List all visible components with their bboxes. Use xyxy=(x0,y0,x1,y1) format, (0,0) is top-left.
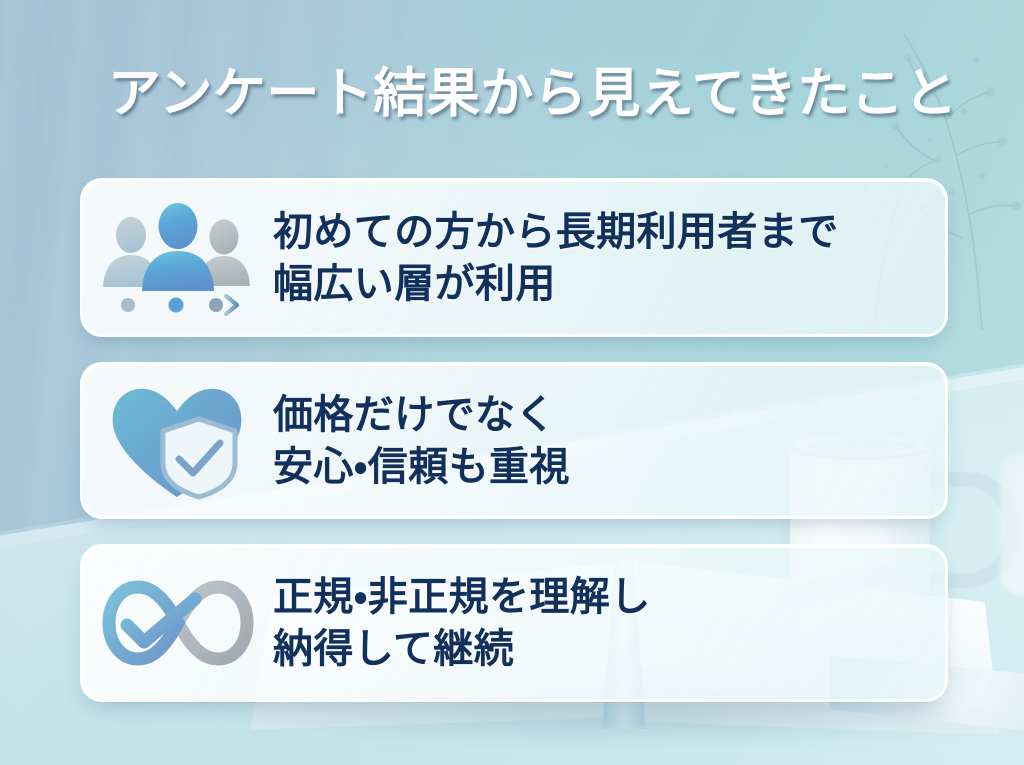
infinity-check-icon xyxy=(103,575,253,671)
card-icon-slot xyxy=(83,365,273,516)
insight-card-text: 初めての方から長期利用者まで 幅広い層が利用 xyxy=(273,206,945,310)
card-icon-slot xyxy=(83,181,273,334)
people-group-timeline-icon xyxy=(98,199,258,317)
insight-card-line-1: 正規・非正規を理解し xyxy=(273,571,921,623)
insight-card-list: 初めての方から長期利用者まで 幅広い層が利用 xyxy=(80,178,948,702)
slide-root: アンケート結果から見えてきたこと xyxy=(0,0,1024,765)
insight-card-text: 価格だけでなく 安心・信頼も重視 xyxy=(273,389,945,493)
insight-card-line-1: 価格だけでなく xyxy=(273,389,921,441)
insight-card-trust[interactable]: 価格だけでなく 安心・信頼も重視 xyxy=(80,362,948,519)
insight-card-line-2: 幅広い層が利用 xyxy=(273,258,921,310)
heart-shield-check-icon xyxy=(107,381,249,501)
page-title: アンケート結果から見えてきたこと xyxy=(108,64,958,123)
insight-card-line-1: 初めての方から長期利用者まで xyxy=(273,206,921,258)
card-icon-slot xyxy=(83,547,273,699)
insight-card-text: 正規・非正規を理解し 納得して継続 xyxy=(273,571,945,675)
shield xyxy=(163,419,235,497)
insight-card-line-2: 安心・信頼も重視 xyxy=(273,441,921,493)
insight-card-users[interactable]: 初めての方から長期利用者まで 幅広い層が利用 xyxy=(80,178,948,337)
insight-card-continuity[interactable]: 正規・非正規を理解し 納得して継続 xyxy=(80,544,948,702)
insight-card-line-2: 納得して継続 xyxy=(273,623,921,675)
person-center xyxy=(142,203,214,291)
